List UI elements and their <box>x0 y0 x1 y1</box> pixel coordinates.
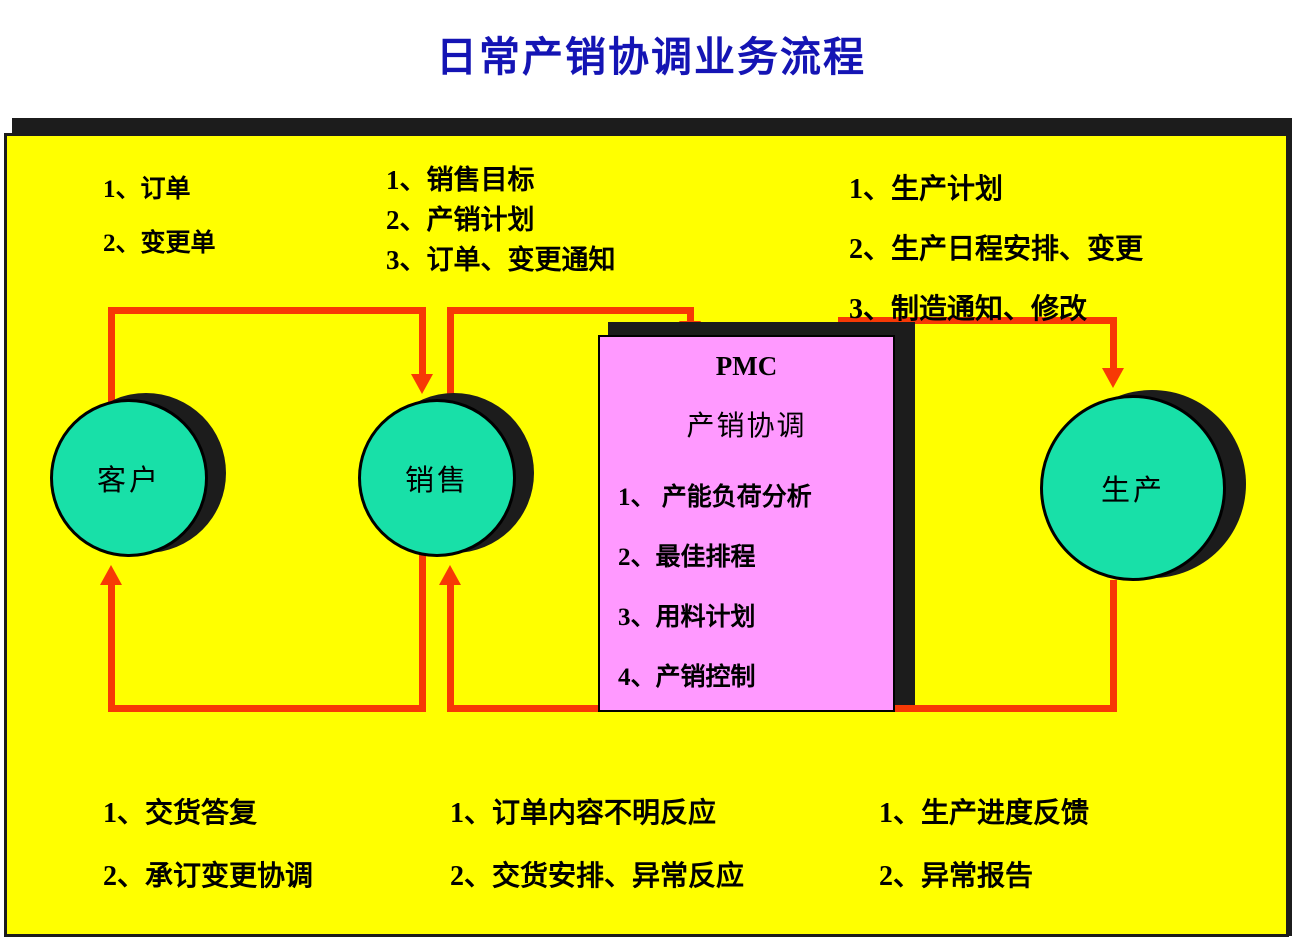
pmc-box[interactable]: PMC 产销协调 1、 产能负荷分析 2、最佳排程 3、用料计划 4、产销控制 <box>598 335 895 712</box>
pmc-item: 3、用料计划 <box>618 588 893 648</box>
connector-h-production-to-pmc <box>872 705 1117 712</box>
annotation-top-right: 1、生产计划 2、生产日程安排、变更 3、制造通知、修改 <box>849 160 1143 340</box>
annotation-top-middle: 1、销售目标 2、产销计划 3、订单、变更通知 <box>386 160 616 280</box>
node-customer[interactable]: 客户 <box>50 393 210 553</box>
pmc-item: 1、 产能负荷分析 <box>618 468 893 528</box>
pmc-item-list: 1、 产能负荷分析 2、最佳排程 3、用料计划 4、产销控制 <box>600 468 893 708</box>
annotation-line: 1、销售目标 <box>386 160 616 200</box>
connector-v-down-to-sales <box>419 307 426 377</box>
node-sales-body[interactable]: 销售 <box>358 399 516 557</box>
arrowhead-down-to-sales <box>411 374 433 394</box>
annotation-line: 1、订单内容不明反应 <box>450 782 744 845</box>
annotation-line: 1、生产计划 <box>849 160 1143 220</box>
annotation-line: 1、生产进度反馈 <box>879 782 1089 845</box>
connector-h-sales-to-customer <box>108 307 426 314</box>
pmc-subtitle: 产销协调 <box>600 404 893 444</box>
node-customer-label: 客户 <box>97 457 161 499</box>
pmc-item: 4、产销控制 <box>618 648 893 708</box>
annotation-line: 1、交货答复 <box>103 782 313 845</box>
connector-v-sales-branch <box>447 307 454 402</box>
connector-h-bottom-customer <box>108 705 426 712</box>
annotation-line: 1、订单 <box>103 163 216 217</box>
connector-v-up-to-customer <box>108 585 115 710</box>
node-sales-label: 销售 <box>405 457 469 499</box>
node-production-label: 生产 <box>1101 467 1165 509</box>
annotation-bottom-right: 1、生产进度反馈 2、异常报告 <box>879 782 1089 908</box>
connector-v-up-to-sales <box>447 585 454 710</box>
connector-h-bottom-pmc-to-sales <box>447 705 622 712</box>
annotation-line: 2、产销计划 <box>386 200 616 240</box>
arrowhead-down-to-production <box>1102 368 1124 388</box>
annotation-top-left: 1、订单 2、变更单 <box>103 163 216 271</box>
node-production-body[interactable]: 生产 <box>1040 395 1226 581</box>
annotation-line: 3、订单、变更通知 <box>386 240 616 280</box>
annotation-line: 2、异常报告 <box>879 845 1089 908</box>
connector-v-down-to-customer <box>108 307 115 402</box>
annotation-line: 3、制造通知、修改 <box>849 280 1143 340</box>
connector-h-pmc-to-sales <box>447 307 694 314</box>
pmc-item: 2、最佳排程 <box>618 528 893 588</box>
annotation-line: 2、交货安排、异常反应 <box>450 845 744 908</box>
annotation-line: 2、变更单 <box>103 217 216 271</box>
connector-v-bottom-sales-down <box>419 550 426 710</box>
arrowhead-up-to-sales <box>439 565 461 585</box>
node-customer-body[interactable]: 客户 <box>50 399 208 557</box>
annotation-line: 2、生产日程安排、变更 <box>849 220 1143 280</box>
node-sales[interactable]: 销售 <box>358 393 518 553</box>
annotation-line: 2、承订变更协调 <box>103 845 313 908</box>
annotation-bottom-middle: 1、订单内容不明反应 2、交货安排、异常反应 <box>450 782 744 908</box>
annotation-bottom-left: 1、交货答复 2、承订变更协调 <box>103 782 313 908</box>
pmc-title: PMC <box>600 351 893 382</box>
connector-v-production-down <box>1110 580 1117 710</box>
arrowhead-up-to-customer <box>100 565 122 585</box>
node-production[interactable]: 生产 <box>1040 390 1230 580</box>
